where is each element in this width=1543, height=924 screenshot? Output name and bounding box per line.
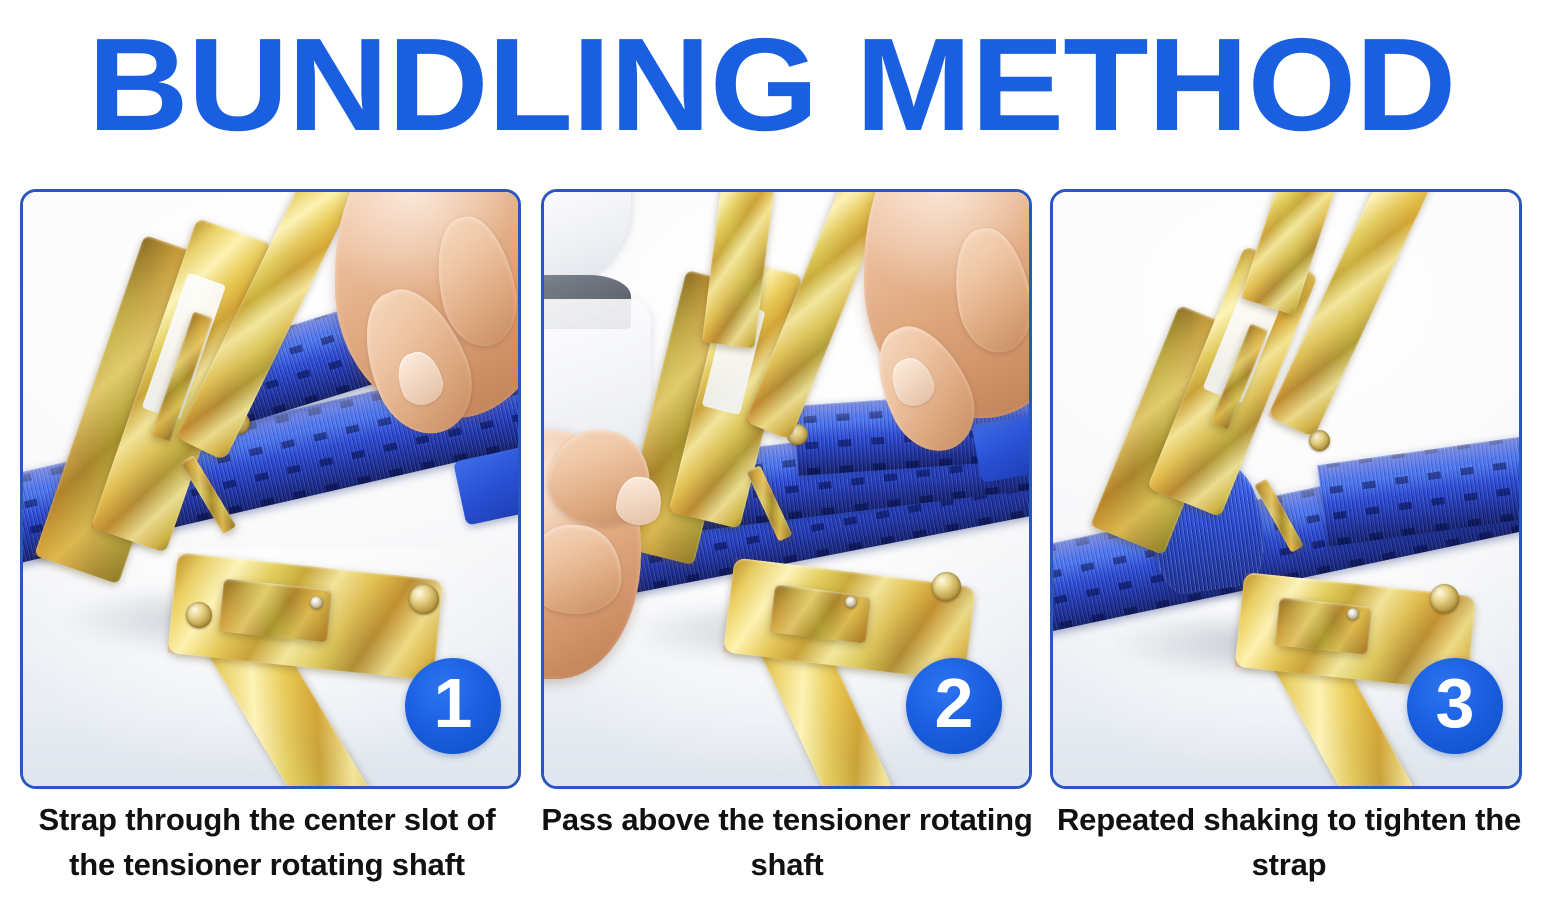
ratchet-spindle [1274,597,1372,654]
step-caption-2: Pass above the tensioner rotating shaft [541,797,1033,887]
axle-bolt-right [409,584,439,614]
step-photo-3: 3 [1053,192,1519,786]
step-number-3: 3 [1436,668,1475,738]
page-title: BUNDLING METHOD [0,26,1543,144]
step-badge-1: 1 [405,658,501,754]
captions-row: Strap through the center slot of the ten… [0,797,1543,924]
ratchet-spindle [219,578,333,643]
step-photo-1: 1 [23,192,518,786]
step-number-2: 2 [935,668,974,738]
step-badge-2: 2 [906,658,1002,754]
pawl-rivet [845,596,857,608]
step-caption-1: Strap through the center slot of the ten… [12,797,522,887]
step-panel-1: 1 [20,189,521,789]
pawl-rivet [1347,608,1359,620]
step-panel-3: 3 [1050,189,1522,789]
step-caption-3: Repeated shaking to tighten the strap [1049,797,1529,887]
steps-gallery: 1 [0,189,1543,789]
step-number-1: 1 [434,668,473,738]
axle-bolt-right [932,572,961,601]
step-panel-2: 2 [541,189,1032,789]
pawl-rivet [310,596,323,609]
step-badge-3: 3 [1407,658,1503,754]
step-photo-2: 2 [544,192,1029,786]
blue-block [971,412,1029,483]
